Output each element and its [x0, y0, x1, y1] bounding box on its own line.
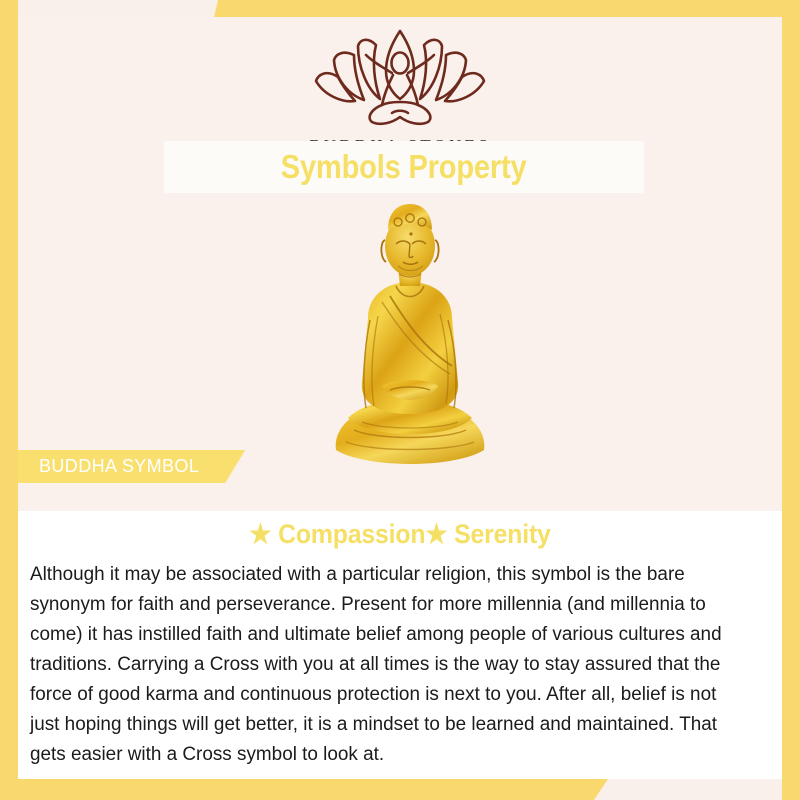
frame-bottom-bar [0, 779, 608, 800]
frame-top-bar [214, 0, 800, 17]
section-ribbon-label: BUDDHA SYMBOL [39, 456, 199, 477]
frame-left-bar [0, 0, 18, 800]
content-subheading: ★ Compassion★ Serenity [49, 519, 752, 550]
title-plate: Symbols Property [164, 141, 644, 193]
content-panel: ★ Compassion★ Serenity Although it may b… [18, 511, 782, 779]
page-title: Symbols Property [281, 148, 527, 186]
brand-header: BUDDHA STONES [18, 25, 782, 156]
frame-right-bar [782, 0, 800, 800]
section-ribbon: BUDDHA SYMBOL [18, 450, 245, 483]
content-paragraph: Although it may be associated with a par… [30, 559, 744, 769]
promo-banner-page: BUDDHA STONES Symbols Property [0, 0, 800, 800]
lotus-meditation-icon [18, 25, 782, 134]
golden-buddha-statue-image [320, 200, 500, 488]
